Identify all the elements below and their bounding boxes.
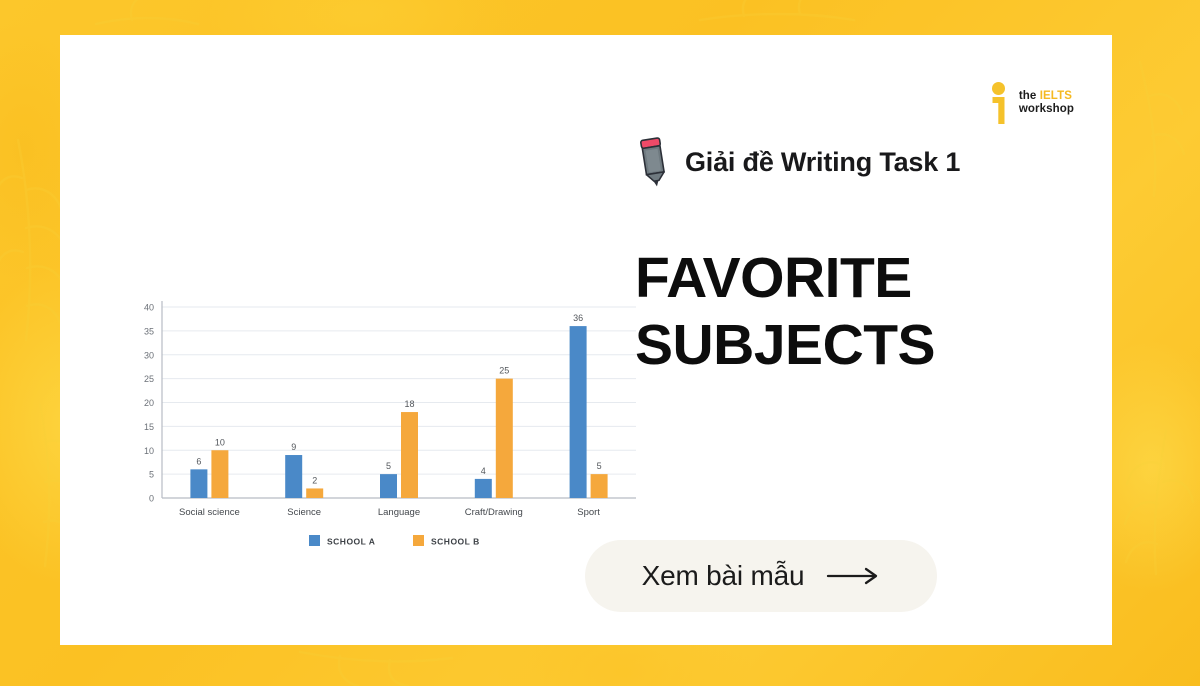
bar [401,412,418,498]
bar [570,326,587,498]
ielts-workshop-i-mark-icon [985,82,1011,124]
headline-line-1: FAVORITE [635,246,912,310]
banner-text-column: Giải đề Writing Task 1 FAVORITE SUBJECTS [635,135,1105,380]
bar-value-label: 5 [597,461,602,471]
bar [591,474,608,498]
subtitle-text: Giải đề Writing Task 1 [685,147,960,178]
brand-logo: the IELTS workshop [985,82,1074,124]
brand-the-word: the [1019,90,1040,102]
brand-logo-text: the IELTS workshop [1019,90,1074,116]
bar-value-label: 18 [404,399,414,409]
bar-value-label: 25 [499,366,509,376]
x-axis-category-label: Science [287,507,321,518]
white-content-card: the IELTS workshop Giải đề Writing Task … [60,35,1112,645]
y-axis-tick-label: 5 [149,470,154,480]
y-axis-tick-label: 30 [144,350,154,360]
view-sample-button-label: Xem bài mẫu [642,560,805,592]
x-axis-category-label: Craft/Drawing [465,507,523,518]
headline-line-2: SUBJECTS [635,312,1105,379]
bar-value-label: 2 [312,475,317,485]
favorite-subjects-bar-chart: 0510152025303540610Social science92Scien… [132,293,642,555]
page-title: FAVORITE SUBJECTS [635,245,1105,380]
pencil-marker-icon [635,135,671,189]
bar [211,450,228,498]
view-sample-button[interactable]: Xem bài mẫu [585,540,937,612]
x-axis-category-label: Social science [179,507,240,518]
brand-logo-line2: workshop [1019,103,1074,116]
brand-logo-line1: the IELTS [1019,90,1074,103]
bar [496,379,513,498]
bar-value-label: 6 [196,456,201,466]
bar [380,474,397,498]
y-axis-tick-label: 15 [144,422,154,432]
bar [190,469,207,498]
bar-value-label: 9 [291,442,296,452]
bar [306,488,323,498]
x-axis-category-label: Language [378,507,420,518]
legend-swatch [413,535,424,546]
bar-value-label: 10 [215,437,225,447]
bar [285,455,302,498]
y-axis-tick-label: 40 [144,303,154,313]
y-axis-tick-label: 20 [144,398,154,408]
chart-svg: 0510152025303540610Social science92Scien… [132,293,642,555]
legend-label: SCHOOL A [327,537,375,547]
legend-label: SCHOOL B [431,537,480,547]
subtitle-row: Giải đề Writing Task 1 [635,135,1105,189]
y-axis-tick-label: 0 [149,494,154,504]
brand-ielts-word: IELTS [1040,90,1072,102]
bar-value-label: 4 [481,466,486,476]
bar-value-label: 5 [386,461,391,471]
arrow-right-icon [826,566,880,586]
bar-value-label: 36 [573,313,583,323]
y-axis-tick-label: 25 [144,374,154,384]
bar [475,479,492,498]
y-axis-tick-label: 35 [144,326,154,336]
y-axis-tick-label: 10 [144,446,154,456]
x-axis-category-label: Sport [577,507,600,518]
legend-swatch [309,535,320,546]
